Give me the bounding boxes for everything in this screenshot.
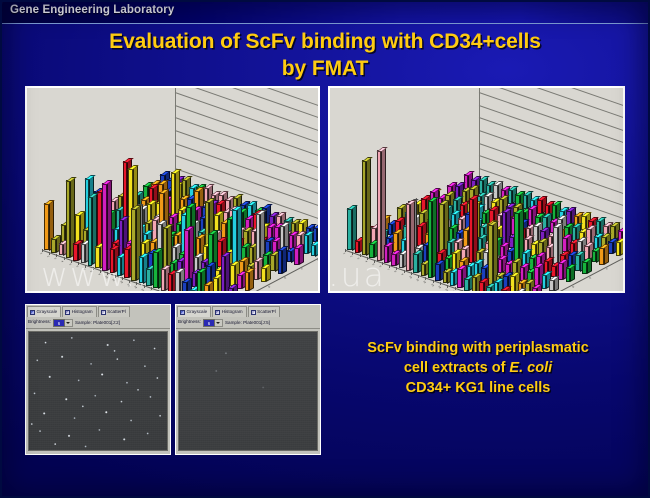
tab-grayscale[interactable]: Grayscale <box>27 306 61 317</box>
histogram-icon <box>215 310 220 315</box>
tab-label: Histogram <box>222 310 243 315</box>
axis-tick <box>374 260 375 263</box>
axis-tick <box>136 282 137 285</box>
tab-grayscale[interactable]: Grayscale <box>177 306 211 317</box>
caption-line-2: cell extracts of E. coli <box>318 358 638 378</box>
axis-tick-label: 1 <box>341 253 344 256</box>
axis-tick-label: 5 <box>371 263 374 266</box>
axis-tick <box>360 254 361 257</box>
chart-bar <box>102 183 107 271</box>
brightness-value[interactable]: 6 <box>53 319 65 327</box>
axis-tick <box>404 270 405 273</box>
chart-panel-right[interactable]: 0102030405060708090100123456789101112131… <box>328 86 625 293</box>
chart-bar <box>443 271 448 284</box>
tab-histogram[interactable]: Histogram <box>212 306 246 317</box>
axis-tick-label: 2 <box>46 256 49 259</box>
axis-tick-label: 14 <box>437 286 441 290</box>
axis-tick-label: 10 <box>407 276 411 280</box>
fmat-toolbar-right: Brightness: 6 Sample: Plate001[J:5] <box>176 317 320 329</box>
axis-tick-label: 6 <box>378 266 381 269</box>
chart-bar <box>406 203 411 271</box>
chart-bar <box>190 289 195 293</box>
chart-bar <box>457 268 462 288</box>
axis-tick-label: 3 <box>53 258 56 261</box>
page-title-line-2: by FMAT <box>0 57 650 81</box>
axis-tick-label: 7 <box>82 268 85 271</box>
chart-bar <box>553 226 558 264</box>
fmat-tabs-right: Grayscale Histogram ScatterPl <box>176 305 320 317</box>
chart-bar <box>616 241 621 256</box>
histogram-icon <box>65 310 70 315</box>
fmat-window-right[interactable]: Grayscale Histogram ScatterPl Brightness… <box>175 304 321 455</box>
axis-tick-label: 16 <box>451 291 455 293</box>
fmat-window-left[interactable]: Grayscale Histogram ScatterPl Brightness… <box>25 304 171 455</box>
brightness-stepper[interactable]: 6 <box>203 319 223 327</box>
chart-bar <box>73 243 78 261</box>
bar-chart-3d-right: 0102030405060708090100123456789101112131… <box>330 88 623 291</box>
chart-bar <box>347 208 352 251</box>
chart-bar <box>377 150 382 261</box>
chart-bar <box>237 274 242 289</box>
chart-bar <box>287 250 292 263</box>
chart-bar <box>204 284 209 293</box>
axis-tick-label: 6 <box>75 266 78 269</box>
axis-tick <box>71 260 72 263</box>
tab-label: Grayscale <box>37 310 58 315</box>
axis-tick-label: 9 <box>97 273 100 276</box>
chart-bar <box>270 254 275 272</box>
chart-bar <box>51 238 56 253</box>
axis-tick <box>425 277 426 280</box>
axis-tick-label: 4 <box>363 261 366 264</box>
fmat-toolbar-left: Brightness: 6 Sample: Plate001[J:2] <box>26 317 170 329</box>
chart-bar <box>599 247 604 265</box>
chart-bar <box>369 243 374 258</box>
chart-bar <box>582 261 587 274</box>
chart-bar <box>435 263 440 281</box>
chart-bar <box>488 224 493 284</box>
scatterplot-icon <box>251 310 256 315</box>
chart-bar <box>502 211 507 246</box>
chart-grid-wall <box>175 86 320 180</box>
scatterplot-icon <box>101 310 106 315</box>
axis-tick <box>129 280 130 283</box>
axis-tick-label: 13 <box>126 284 130 288</box>
chevron-down-icon[interactable] <box>65 319 73 327</box>
tab-scatterplot[interactable]: ScatterPl <box>98 306 130 317</box>
axis-tick-label: 15 <box>444 289 448 293</box>
chart-bar <box>472 276 477 293</box>
page-title-line-1: Evaluation of ScFv binding with CD34+cel… <box>0 30 650 54</box>
axis-tick <box>455 287 456 290</box>
axis-tick-label: 7 <box>385 268 388 271</box>
axis-tick-label: 3 <box>356 258 359 261</box>
image-grain <box>29 332 167 450</box>
axis-tick-label: D <box>573 286 576 289</box>
axis-tick <box>418 275 419 278</box>
tab-histogram[interactable]: Histogram <box>62 306 96 317</box>
axis-tick-label: F <box>301 268 304 271</box>
chart-bar <box>245 271 250 291</box>
caption-line-2-prefix: cell extracts of <box>404 360 510 376</box>
axis-tick-label: 1 <box>38 253 41 256</box>
chart-bar <box>161 268 166 291</box>
chart-bar <box>494 281 499 293</box>
chart-grid-wall <box>479 86 625 180</box>
chart-bar <box>566 267 571 282</box>
axis-tick-label: 16 <box>147 291 151 293</box>
image-grain <box>179 332 317 450</box>
chart-bar <box>249 246 254 264</box>
chart-bar <box>362 160 367 256</box>
chart-bar <box>417 225 422 245</box>
chart-bar <box>44 203 49 251</box>
fmat-grayscale-image-left[interactable] <box>28 331 168 451</box>
chart-bar <box>391 253 396 266</box>
chart-panel-left[interactable]: 0102030405060708090100123456789101112131… <box>25 86 320 293</box>
fmat-grayscale-image-right[interactable] <box>178 331 318 451</box>
chart-bar <box>355 240 360 253</box>
axis-tick-label: 13 <box>429 284 433 288</box>
chart-bar <box>516 291 521 293</box>
axis-tick <box>158 290 159 293</box>
axis-line <box>479 86 480 180</box>
axis-tick-label: E <box>589 277 592 280</box>
chart-bar <box>479 281 484 293</box>
chart-bar <box>575 254 580 272</box>
bar-chart-3d-left: 0102030405060708090100123456789101112131… <box>27 88 318 291</box>
chart-bar <box>221 255 226 293</box>
tab-scatterplot[interactable]: ScatterPl <box>248 306 280 317</box>
chart-bar <box>399 253 404 268</box>
axis-line <box>175 86 176 180</box>
axis-tick <box>100 270 101 273</box>
axis-tick <box>447 285 448 288</box>
tab-label: ScatterPl <box>257 310 276 315</box>
chart-bar <box>95 246 100 269</box>
axis-tick <box>396 267 397 270</box>
chart-bar <box>464 278 469 291</box>
tab-label: Grayscale <box>187 310 208 315</box>
brightness-stepper[interactable]: 6 <box>53 319 73 327</box>
chart-bar <box>608 241 613 254</box>
axis-tick-label: F <box>606 268 609 271</box>
axis-tick-label: D <box>268 286 271 289</box>
chart-bar <box>153 251 158 289</box>
brightness-label: Brightness: <box>28 320 51 325</box>
chart-bar <box>294 247 299 265</box>
brightness-value[interactable]: 6 <box>203 319 215 327</box>
axis-tick <box>85 265 86 268</box>
chart-bar <box>61 224 66 242</box>
chart-bar <box>117 256 122 276</box>
chart-bar <box>532 287 537 293</box>
chart-bar <box>510 275 515 293</box>
chart-bar <box>486 286 491 293</box>
chart-bar <box>384 245 389 263</box>
axis-tick <box>107 272 108 275</box>
axis-tick-label: 15 <box>140 289 144 293</box>
axis-tick <box>382 262 383 265</box>
grayscale-icon <box>30 310 35 315</box>
caption-line-1: ScFv binding with periplasmatic <box>318 338 638 358</box>
axis-tick-label: 9 <box>400 273 403 276</box>
axis-tick-label: 10 <box>104 276 108 280</box>
chart-bar <box>413 253 418 273</box>
tab-label: Histogram <box>72 310 93 315</box>
fmat-tabs-left: Grayscale Histogram ScatterPl <box>26 305 170 317</box>
axis-tick-label: 11 <box>415 278 419 282</box>
brightness-label: Brightness: <box>178 320 201 325</box>
chart-bar <box>175 271 180 293</box>
chart-bar <box>110 248 115 273</box>
chart-bar <box>81 243 86 263</box>
axis-tick <box>462 290 463 293</box>
chart-bar <box>88 196 93 265</box>
chart-bar <box>184 229 189 284</box>
axis-tick <box>352 252 353 255</box>
axis-tick <box>64 257 65 260</box>
axis-tick-label: 2 <box>349 256 352 259</box>
chart-bar <box>230 264 235 287</box>
chart-bar <box>254 260 259 280</box>
sample-label: Sample: Plate001[J:5] <box>225 320 270 325</box>
axis-tick <box>115 275 116 278</box>
chart-bar <box>139 256 144 284</box>
chart-bar <box>558 262 563 280</box>
axis-tick <box>93 267 94 270</box>
lab-name: Gene Engineering Laboratory <box>10 4 174 16</box>
tab-label: ScatterPl <box>107 310 126 315</box>
chart-bar <box>131 208 136 281</box>
sample-label: Sample: Plate001[J:2] <box>75 320 120 325</box>
chart-bar <box>261 267 266 282</box>
grayscale-icon <box>180 310 185 315</box>
chart-bar <box>514 212 519 265</box>
chart-bar <box>469 198 474 263</box>
chart-bar <box>278 249 283 274</box>
header-bar: Gene Engineering Laboratory <box>0 0 650 24</box>
chart-bar <box>549 279 554 292</box>
chart-bar <box>59 243 64 256</box>
caption-line-3: CD34+ KG1 line cells <box>318 378 638 398</box>
axis-tick <box>49 252 50 255</box>
chart-bar <box>228 287 233 293</box>
chart-bar <box>146 268 151 286</box>
chart-bar <box>311 244 316 257</box>
axis-tick-label: 4 <box>60 261 63 264</box>
caption-species-name: E. coli <box>509 360 552 376</box>
chart-bar <box>124 248 129 278</box>
chart-bar <box>501 289 506 293</box>
chart-bar <box>66 180 71 258</box>
chart-bar <box>168 273 173 293</box>
axis-tick-label: 14 <box>133 286 137 290</box>
axis-tick <box>144 285 145 288</box>
axis-tick-label: G <box>318 259 320 262</box>
chart-bar <box>182 281 187 293</box>
chart-bar <box>542 274 547 289</box>
axis-tick-label: 12 <box>118 281 122 285</box>
axis-tick-label: 5 <box>67 263 70 266</box>
axis-tick-label: 11 <box>111 278 115 282</box>
chart-bar <box>421 263 426 276</box>
chart-bar <box>428 200 433 278</box>
axis-tick <box>56 254 57 257</box>
chevron-down-icon[interactable] <box>215 319 223 327</box>
axis-tick-label: 8 <box>89 271 92 274</box>
axis-tick-label: G <box>623 259 625 262</box>
axis-tick <box>78 262 79 265</box>
axis-tick-label: 8 <box>393 271 396 274</box>
chart-bar <box>450 271 455 286</box>
chart-bar <box>197 271 202 293</box>
chart-bar <box>592 250 597 263</box>
caption-block: ScFv binding with periplasmatic cell ext… <box>318 338 638 398</box>
axis-tick-label: 12 <box>422 281 426 285</box>
axis-tick-label: E <box>285 277 288 280</box>
chart-bar <box>439 203 444 253</box>
